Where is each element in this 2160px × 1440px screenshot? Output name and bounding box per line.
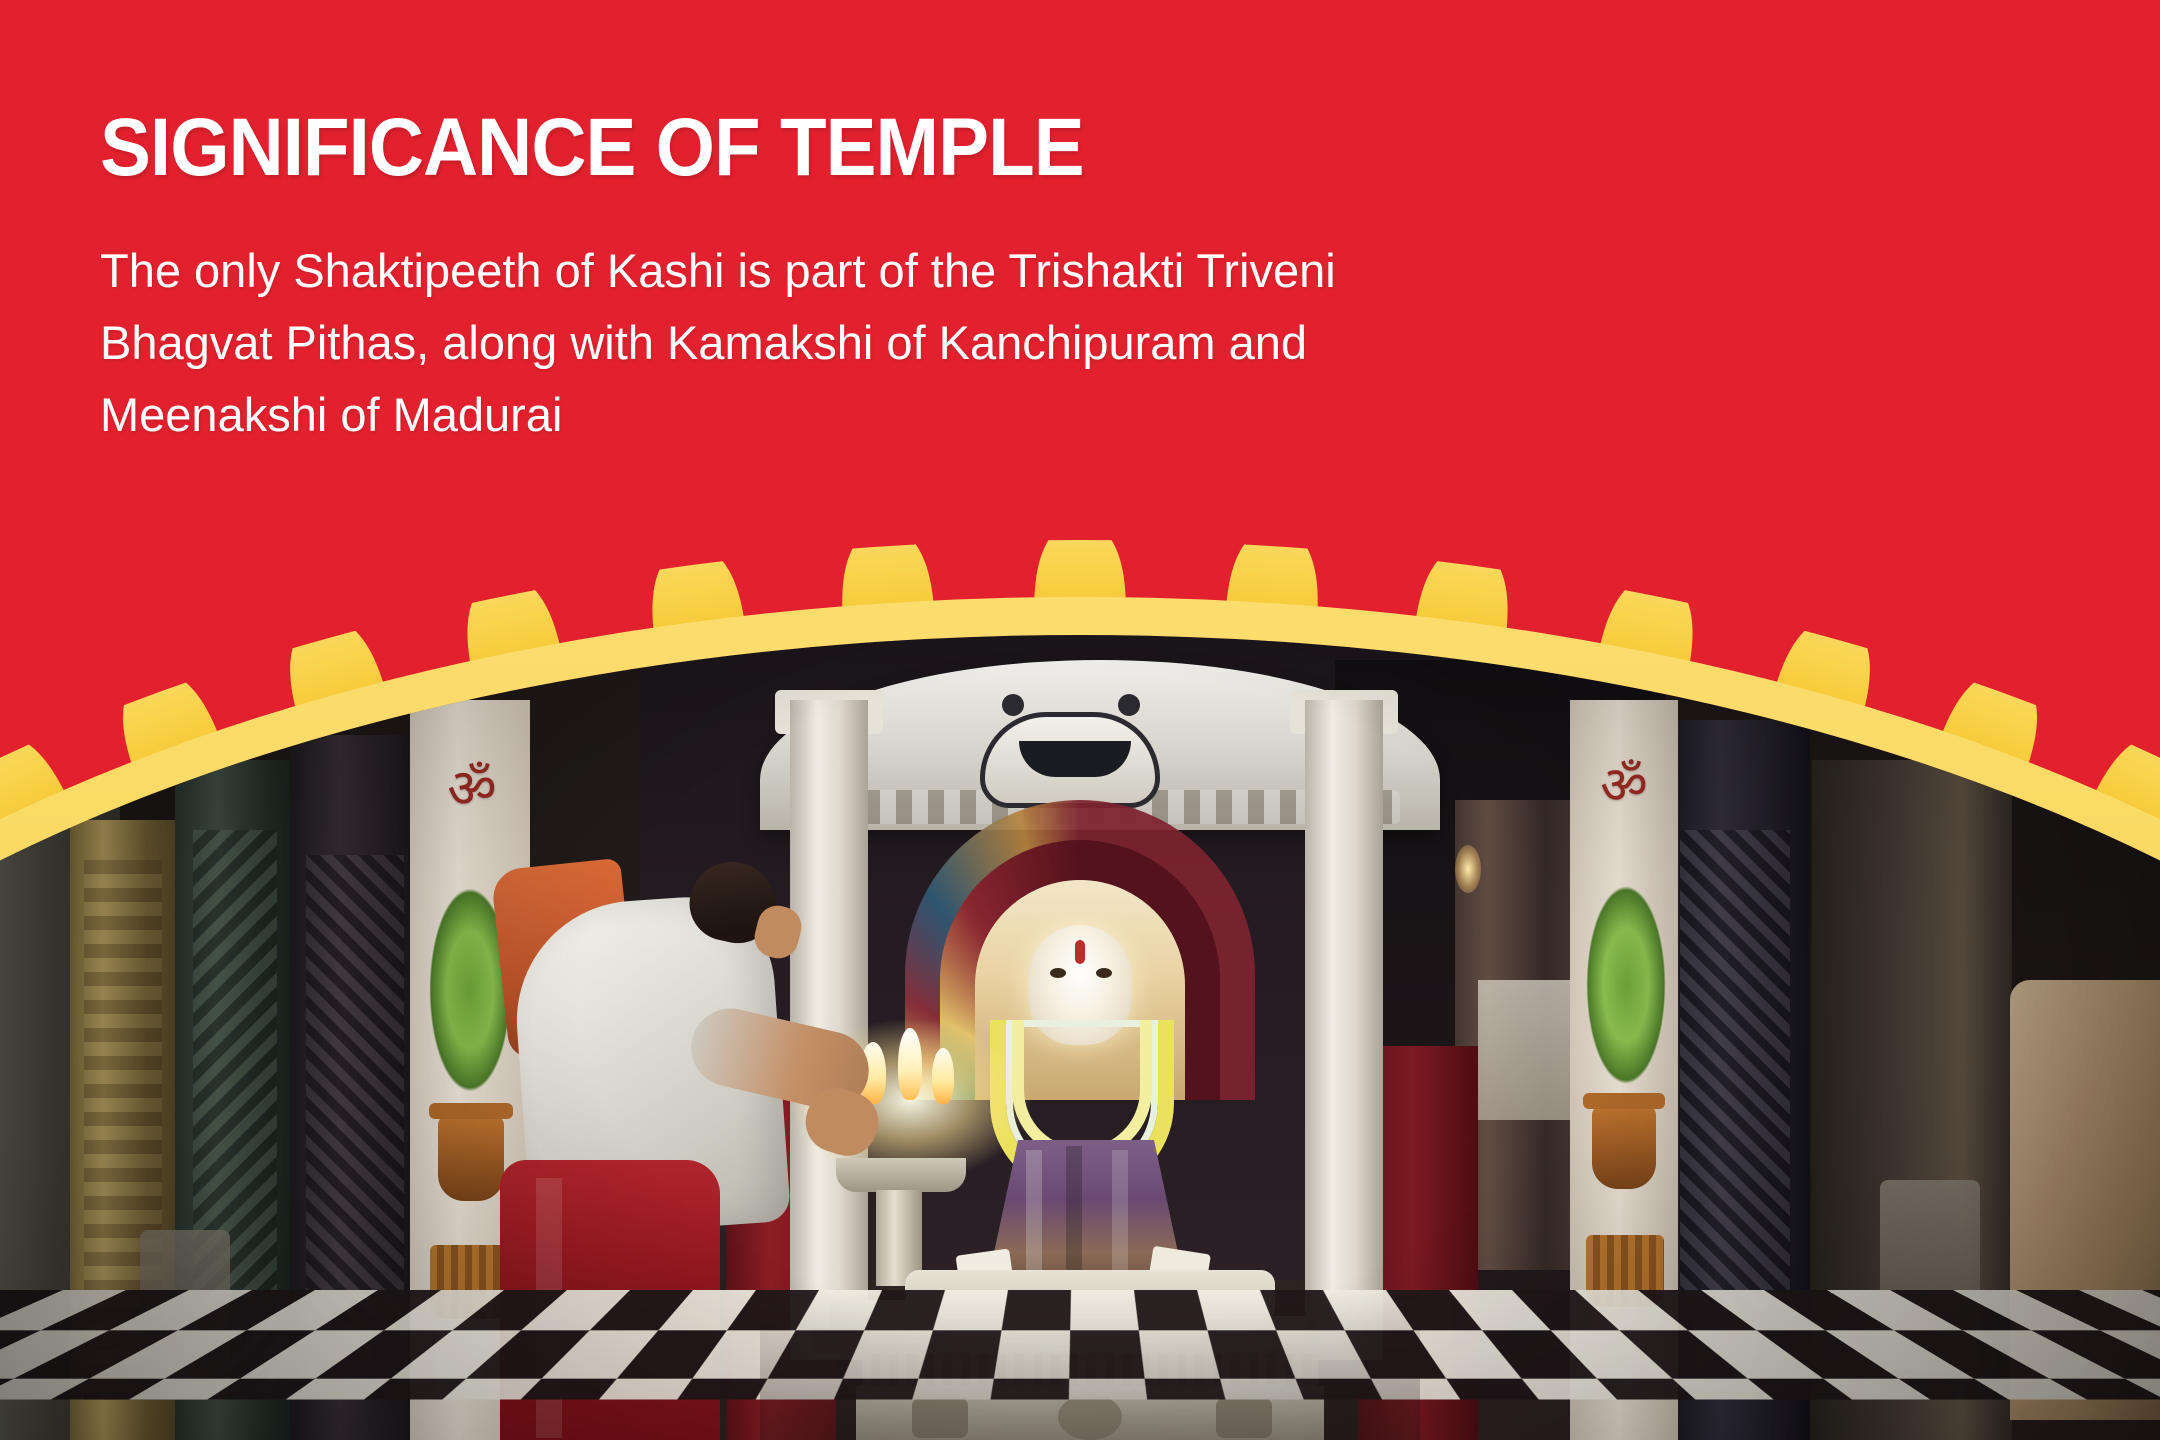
subtitle-line-2: Bhagvat Pithas, along with Kamakshi of K… — [100, 307, 1840, 379]
page-subtitle: The only Shaktipeeth of Kashi is part of… — [100, 235, 1840, 451]
header-block: SIGNIFICANCE OF TEMPLE The only Shaktipe… — [100, 105, 1900, 451]
subtitle-line-1: The only Shaktipeeth of Kashi is part of… — [100, 235, 1840, 307]
subtitle-line-3: Meenakshi of Madurai — [100, 379, 1840, 451]
page-title: SIGNIFICANCE OF TEMPLE — [100, 105, 1774, 191]
infographic-slide: ॐ ॐ — [0, 0, 2160, 1440]
